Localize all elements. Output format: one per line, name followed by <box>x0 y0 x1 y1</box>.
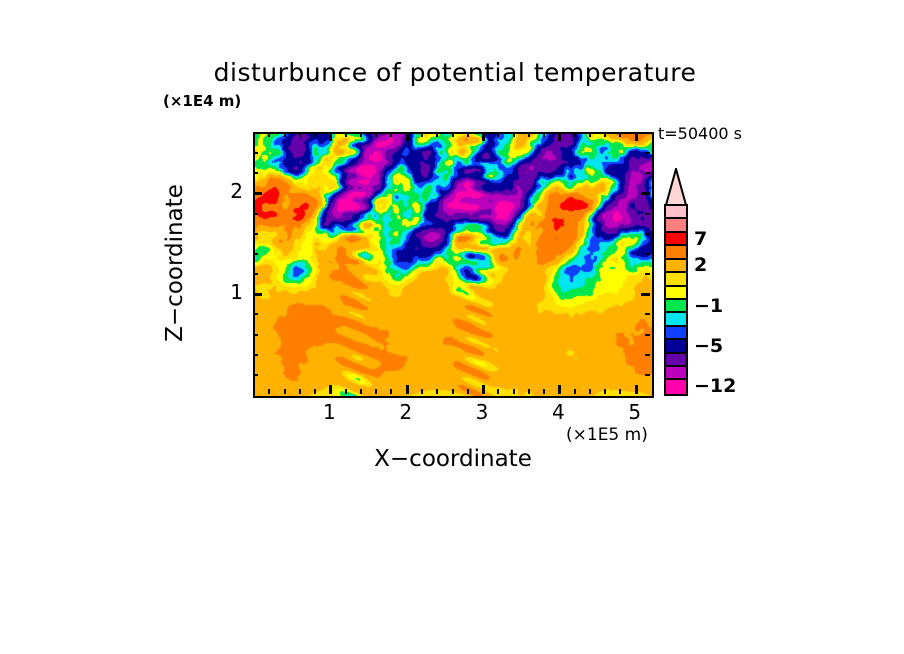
tick-mark <box>299 389 301 394</box>
x-tick-label: 3 <box>462 400 502 424</box>
x-tick-label: 1 <box>309 400 349 424</box>
tick-mark <box>543 389 545 394</box>
colorbar-band <box>666 327 686 340</box>
colorbar-label: −12 <box>694 375 736 397</box>
colorbar-band <box>666 367 686 380</box>
tick-mark <box>589 389 591 394</box>
tick-mark <box>329 132 332 141</box>
tick-mark <box>253 354 258 356</box>
tick-mark <box>558 385 561 394</box>
tick-mark <box>645 233 650 235</box>
tick-mark <box>284 132 286 137</box>
tick-mark <box>253 213 258 215</box>
tick-mark <box>574 132 576 137</box>
tick-mark <box>299 132 301 137</box>
colorbar-band <box>666 233 686 246</box>
tick-mark <box>452 389 454 394</box>
tick-mark <box>390 132 392 137</box>
colorbar-label: −1 <box>694 295 723 317</box>
y-axis-label: Z−coordinate <box>162 163 192 363</box>
tick-mark <box>253 233 258 235</box>
colorbar-label: 2 <box>694 254 707 276</box>
tick-mark <box>268 389 270 394</box>
colorbar-band <box>666 340 686 353</box>
tick-mark <box>253 273 258 275</box>
tick-mark <box>645 374 650 376</box>
contour-plot-area <box>253 132 654 398</box>
colorbar-band <box>666 380 686 393</box>
colorbar-arrow-cap <box>664 168 688 206</box>
x-tick-label: 5 <box>615 400 655 424</box>
tick-mark <box>482 385 485 394</box>
tick-mark <box>375 132 377 137</box>
tick-mark <box>604 132 606 137</box>
tick-mark <box>645 253 650 255</box>
tick-mark <box>574 389 576 394</box>
colorbar-band <box>666 246 686 259</box>
tick-mark <box>253 334 258 336</box>
tick-mark <box>421 389 423 394</box>
tick-mark <box>345 389 347 394</box>
tick-mark <box>268 132 270 137</box>
colorbar-bands <box>664 204 688 396</box>
colorbar-band <box>666 219 686 232</box>
tick-mark <box>360 389 362 394</box>
tick-mark <box>528 389 530 394</box>
tick-mark <box>360 132 362 137</box>
tick-mark <box>314 132 316 137</box>
x-tick-label: 4 <box>538 400 578 424</box>
tick-mark <box>528 132 530 137</box>
colorbar-band <box>666 313 686 326</box>
tick-mark <box>345 132 347 137</box>
tick-mark <box>375 389 377 394</box>
tick-mark <box>406 385 409 394</box>
tick-mark <box>645 354 650 356</box>
tick-mark <box>604 389 606 394</box>
tick-mark <box>253 374 258 376</box>
tick-mark <box>641 293 650 296</box>
y-axis-units-label: (×1E4 m) <box>163 92 241 110</box>
contour-field <box>255 134 652 396</box>
tick-mark <box>645 313 650 315</box>
tick-mark <box>513 389 515 394</box>
tick-mark <box>641 192 650 195</box>
x-axis-label: X−coordinate <box>273 446 633 472</box>
x-axis-units-label: (×1E5 m) <box>566 425 648 445</box>
tick-mark <box>421 132 423 137</box>
colorbar-band <box>666 273 686 286</box>
colorbar <box>664 168 688 396</box>
tick-mark <box>329 385 332 394</box>
tick-mark <box>390 389 392 394</box>
tick-mark <box>645 273 650 275</box>
colorbar-band <box>666 354 686 367</box>
tick-mark <box>635 132 638 141</box>
tick-mark <box>543 132 545 137</box>
tick-mark <box>619 389 621 394</box>
y-tick-label: 1 <box>203 280 243 304</box>
tick-mark <box>513 132 515 137</box>
tick-mark <box>645 213 650 215</box>
tick-mark <box>497 132 499 137</box>
y-tick-label: 2 <box>203 179 243 203</box>
tick-mark <box>645 334 650 336</box>
tick-mark <box>314 389 316 394</box>
tick-mark <box>253 192 262 195</box>
tick-mark <box>253 152 258 154</box>
colorbar-band <box>666 300 686 313</box>
tick-mark <box>284 389 286 394</box>
colorbar-band <box>666 206 686 219</box>
tick-mark <box>253 253 258 255</box>
tick-mark <box>645 172 650 174</box>
tick-mark <box>436 389 438 394</box>
colorbar-label: 7 <box>694 228 707 250</box>
tick-mark <box>635 385 638 394</box>
time-annotation: t=50400 s <box>658 124 742 143</box>
tick-mark <box>467 132 469 137</box>
tick-mark <box>497 389 499 394</box>
figure-canvas: disturbunce of potential temperature (×1… <box>0 0 904 654</box>
tick-mark <box>589 132 591 137</box>
x-tick-label: 2 <box>386 400 426 424</box>
tick-mark <box>452 132 454 137</box>
tick-mark <box>645 152 650 154</box>
colorbar-band <box>666 260 686 273</box>
tick-mark <box>253 313 258 315</box>
tick-mark <box>619 132 621 137</box>
tick-mark <box>406 132 409 141</box>
page-title: disturbunce of potential temperature <box>170 58 740 87</box>
tick-mark <box>467 389 469 394</box>
colorbar-band <box>666 287 686 300</box>
colorbar-label: −5 <box>694 335 723 357</box>
tick-mark <box>482 132 485 141</box>
tick-mark <box>558 132 561 141</box>
tick-mark <box>436 132 438 137</box>
tick-mark <box>253 293 262 296</box>
tick-mark <box>253 172 258 174</box>
